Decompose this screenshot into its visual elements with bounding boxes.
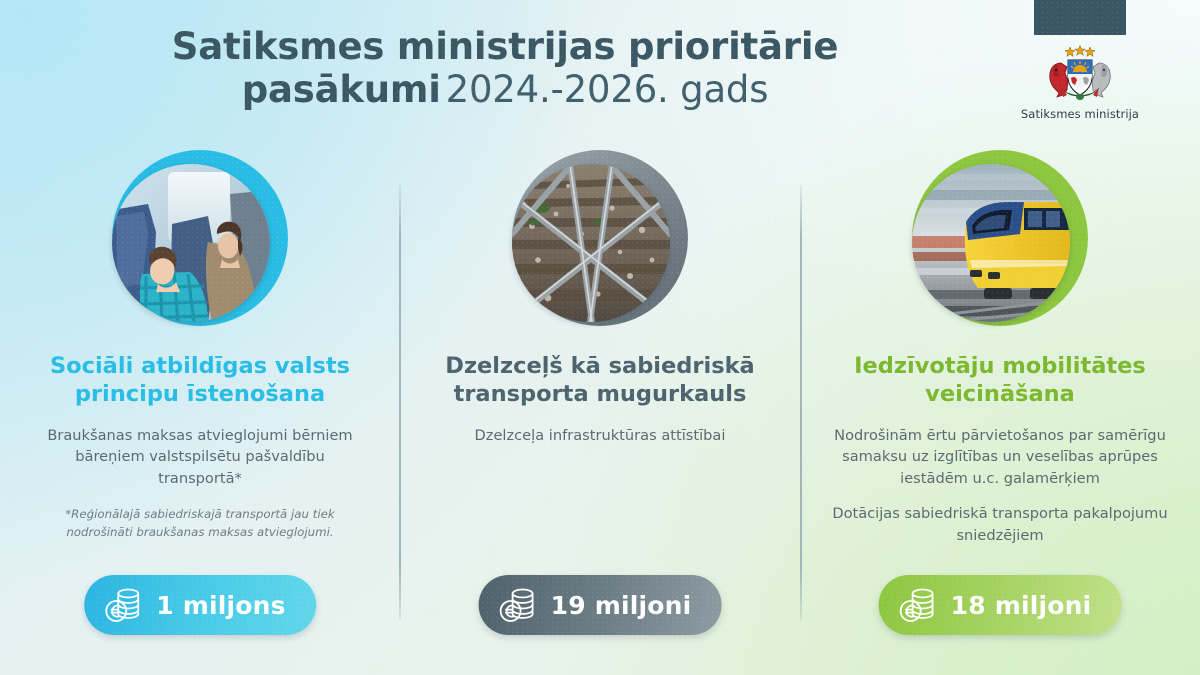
latvia-coat-of-arms-icon — [1041, 43, 1119, 105]
column-1-title: Sociāli atbildīgas valsts principu īsten… — [25, 352, 375, 409]
column-1-note: *Reģionālajā sabiedriskajā transportā ja… — [50, 506, 350, 540]
column-2-title: Dzelzceļš kā sabiedriskā transporta mugu… — [425, 352, 775, 409]
title-line-2: pasākumi 2024.-2026. gads — [0, 69, 1010, 112]
column-2-body: Dzelzceļa infrastruktūras attīstībai — [435, 425, 765, 447]
euro-coins-icon — [497, 584, 539, 626]
title-period: 2024.-2026. gads — [446, 68, 769, 111]
priority-columns: Sociāli atbildīgas valsts principu īsten… — [0, 148, 1200, 638]
bus-passengers-photo-wrap — [112, 150, 288, 326]
title-line-1: Satiksmes ministrijas prioritārie — [0, 26, 1010, 69]
bus-passengers-photo — [112, 164, 270, 322]
budget-pill-2[interactable]: 19 miljoni — [479, 575, 722, 635]
column-1-body: Braukšanas maksas atvieglojumi bērniem b… — [35, 425, 365, 490]
column-3-body: Nodrošinām ērtu pārvietošanos par samērī… — [820, 425, 1180, 490]
railway-tracks-photo-wrap — [512, 150, 688, 326]
high-speed-train-photo — [912, 164, 1070, 322]
euro-coins-icon — [102, 584, 144, 626]
page-title: Satiksmes ministrijas prioritārie pasāku… — [0, 26, 1010, 112]
priority-column-1: Sociāli atbildīgas valsts principu īsten… — [0, 148, 400, 638]
column-3-body-2: Dotācijas sabiedriskā transporta pakalpo… — [820, 503, 1180, 546]
column-1-amount: 1 miljons — [156, 591, 286, 620]
logo-caption: Satiksmes ministrija — [1005, 107, 1155, 121]
budget-pill-1[interactable]: 1 miljons — [84, 575, 316, 635]
priority-column-2: Dzelzceļš kā sabiedriskā transporta mugu… — [400, 148, 800, 638]
priority-column-3: Iedzīvotāju mobilitātes veicināšana Nodr… — [800, 148, 1200, 638]
railway-tracks-photo — [512, 164, 670, 322]
column-3-amount: 18 miljoni — [951, 591, 1092, 620]
budget-pill-3[interactable]: 18 miljoni — [879, 575, 1122, 635]
infographic-poster: Satiksmes ministrijas prioritārie pasāku… — [0, 0, 1200, 675]
column-2-amount: 19 miljoni — [551, 591, 692, 620]
high-speed-train-photo-wrap — [912, 150, 1088, 326]
logo-bar — [1034, 0, 1126, 35]
ministry-logo: Satiksmes ministrija — [1005, 0, 1155, 121]
column-3-title: Iedzīvotāju mobilitātes veicināšana — [825, 352, 1175, 409]
title-bold-part-1: Satiksmes ministrijas prioritārie — [172, 25, 838, 68]
euro-coins-icon — [897, 584, 939, 626]
train-body — [965, 202, 1070, 299]
title-bold-part-2: pasākumi — [242, 68, 441, 111]
